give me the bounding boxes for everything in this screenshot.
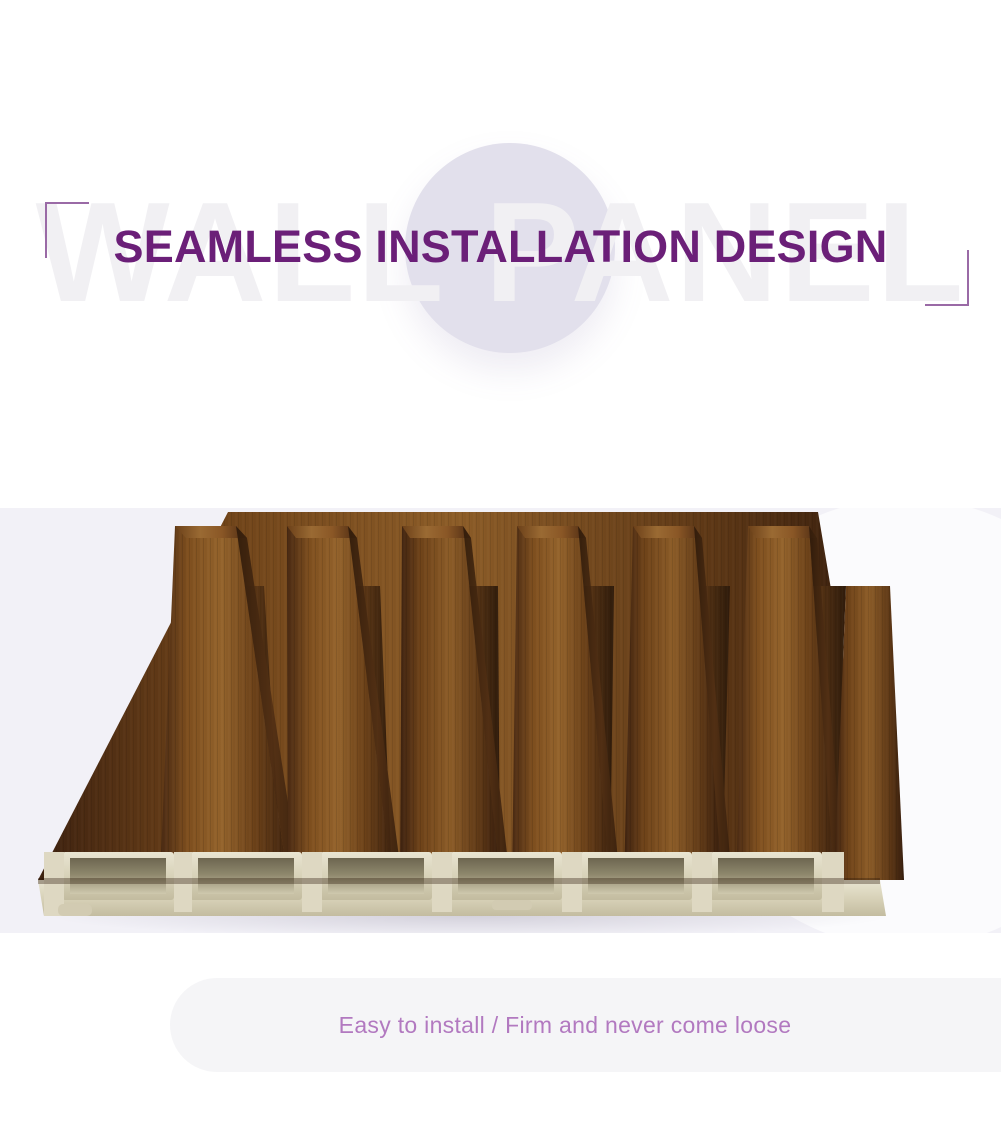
hero-section: WALL PANEL SEAMLESS INSTALLATION DESIGN	[0, 0, 1001, 508]
wpc-fluted-wall-panel-image	[0, 508, 1001, 933]
page-title: SEAMLESS INSTALLATION DESIGN	[0, 221, 1001, 273]
caption-text: Easy to install / Firm and never come lo…	[170, 978, 960, 1072]
product-stage	[0, 508, 1001, 933]
